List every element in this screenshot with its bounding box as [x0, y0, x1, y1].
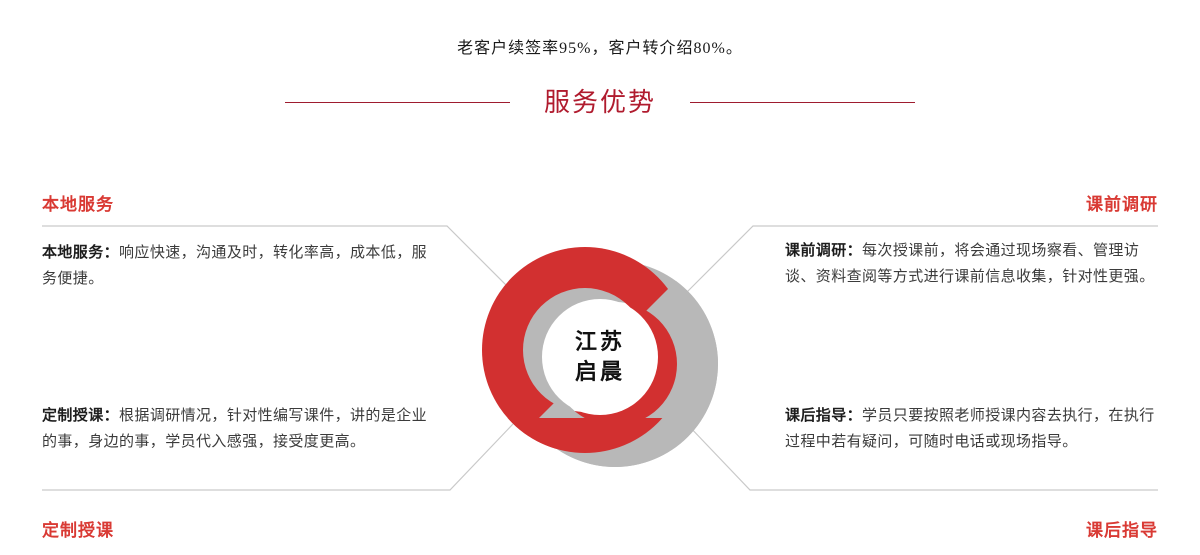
category-label-pre-course-research: 课前调研 — [1086, 190, 1158, 215]
center-wordmark: 江苏 启晨 — [465, 222, 735, 492]
description-lead: 课后指导： — [785, 407, 862, 424]
section-heading: 服务优势 — [0, 80, 1200, 124]
category-label-local-service: 本地服务 — [42, 190, 114, 215]
description-lead: 课前调研： — [785, 242, 862, 259]
description-top-right: 课前调研：每次授课前，将会通过现场察看、管理访谈、资料查阅等方式进行课前信息收集… — [785, 238, 1160, 290]
category-label-custom-teaching: 定制授课 — [42, 516, 114, 541]
description-lead: 定制授课： — [42, 407, 119, 424]
category-label-post-course-guidance: 课后指导 — [1086, 516, 1158, 541]
center-wordmark-line-1: 江苏 — [575, 327, 625, 357]
page-title: 服务优势 — [544, 89, 656, 115]
heading-rule-right — [690, 102, 915, 103]
center-wordmark-line-2: 启晨 — [575, 357, 625, 387]
description-bottom-left: 定制授课：根据调研情况，针对性编写课件，讲的是企业的事，身边的事，学员代入感强，… — [42, 403, 442, 455]
tagline: 老客户续签率95%，客户转介绍80%。 — [0, 34, 1200, 58]
description-lead: 本地服务： — [42, 244, 119, 261]
description-bottom-right: 课后指导：学员只要按照老师授课内容去执行，在执行过程中若有疑问，可随时电话或现场… — [785, 403, 1160, 455]
description-top-left: 本地服务：响应快速，沟通及时，转化率高，成本低，服务便捷。 — [42, 240, 437, 292]
heading-rule-left — [285, 102, 510, 103]
